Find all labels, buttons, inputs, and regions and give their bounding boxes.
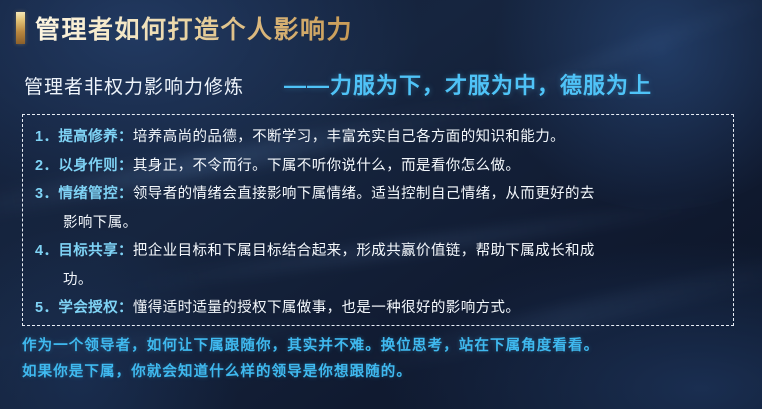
list-item-keyword: 目标共享: [58, 243, 118, 259]
list-item-colon: ：: [118, 300, 133, 316]
list-item-body: 领导者的情绪会直接影响下属情绪。适当控制自己情绪，从而更好的去: [133, 186, 595, 202]
list-item-colon: ：: [118, 186, 133, 202]
subtitle-row: 管理者非权力影响力修炼 ——力服为下，才服为中，德服为上: [24, 68, 746, 100]
list-item: 4．目标共享：把企业目标和下属目标结合起来，形成共赢价值链，帮助下属成长和成: [35, 237, 721, 266]
list-item-number: 1．: [35, 129, 58, 145]
list-item: 2．以身作则：其身正，不令而行。下属不听你说什么，而是看你怎么做。: [35, 152, 721, 181]
background-light-streak: [430, 0, 762, 131]
list-item-number: 4．: [35, 243, 58, 259]
page-title: 管理者如何打造个人影响力: [35, 10, 353, 46]
footer-note: 作为一个领导者，如何让下属跟随你，其实并不难。换位思考，站在下属角度看看。 如果…: [22, 333, 748, 385]
list-item-number: 5．: [35, 300, 58, 316]
subtitle-main: 管理者非权力影响力修炼: [24, 72, 244, 99]
list-item: 3．情绪管控：领导者的情绪会直接影响下属情绪。适当控制自己情绪，从而更好的去: [35, 180, 721, 209]
list-item-body: 懂得适时适量的授权下属做事，也是一种很好的影响方式。: [133, 300, 520, 316]
list-item-keyword: 情绪管控: [58, 186, 118, 202]
list-item-keyword: 学会授权: [58, 300, 118, 316]
list-item-colon: ：: [118, 243, 133, 259]
list-item-number: 2．: [35, 158, 58, 174]
subtitle-accent: ——力服为下，才服为中，德服为上: [284, 68, 652, 100]
list-item-number: 3．: [35, 186, 58, 202]
list-item: 5．学会授权：懂得适时适量的授权下属做事，也是一种很好的影响方式。: [35, 294, 721, 323]
list-item-continuation: 功。: [35, 266, 721, 295]
list-item-body: 其身正，不令而行。下属不听你说什么，而是看你怎么做。: [133, 158, 520, 174]
footer-line: 如果你是下属，你就会知道什么样的领导是你想跟随的。: [22, 359, 748, 385]
list-item-keyword: 以身作则: [58, 158, 118, 174]
list-item-colon: ：: [118, 158, 133, 174]
list-item-continuation: 影响下属。: [35, 209, 721, 238]
list-item-keyword: 提高修养: [58, 129, 118, 145]
gold-bar-marker-icon: [16, 12, 25, 44]
title-row: 管理者如何打造个人影响力: [16, 10, 353, 46]
list-item-colon: ：: [118, 129, 133, 145]
slide-canvas: 管理者如何打造个人影响力 管理者非权力影响力修炼 ——力服为下，才服为中，德服为…: [0, 0, 762, 409]
list-item: 1．提高修养：培养高尚的品德，不断学习，丰富充实自己各方面的知识和能力。: [35, 123, 721, 152]
list-item-body: 把企业目标和下属目标结合起来，形成共赢价值链，帮助下属成长和成: [133, 243, 595, 259]
list-item-body: 培养高尚的品德，不断学习，丰富充实自己各方面的知识和能力。: [133, 129, 565, 145]
footer-line: 作为一个领导者，如何让下属跟随你，其实并不难。换位思考，站在下属角度看看。: [22, 333, 748, 359]
dashed-list-box: 1．提高修养：培养高尚的品德，不断学习，丰富充实自己各方面的知识和能力。 2．以…: [22, 114, 734, 326]
